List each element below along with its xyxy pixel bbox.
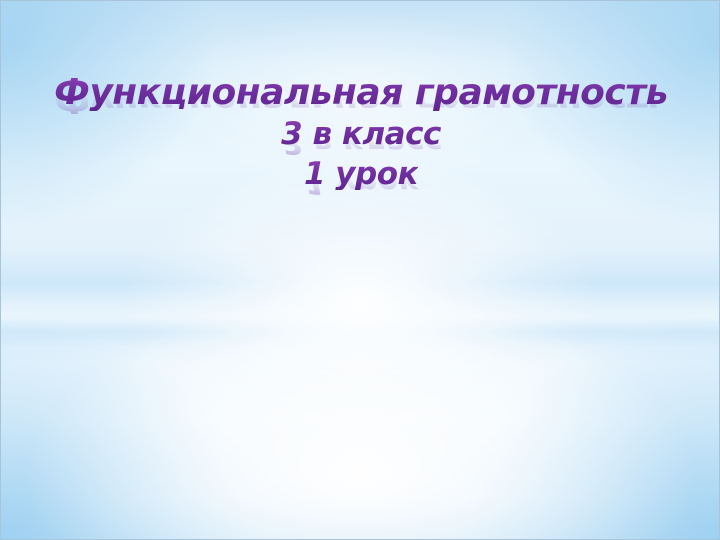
title-line-1: Функциональная грамотность Функциональна…	[1, 75, 720, 117]
slide-title-block: Функциональная грамотность Функциональна…	[1, 75, 720, 197]
title-line-2: 3 в класс 3 в класс	[1, 119, 720, 157]
title-line-1-text: Функциональная грамотность	[54, 75, 668, 111]
title-line-3-text: 1 урок	[304, 159, 418, 190]
title-line-3: 1 урок 1 урок	[1, 159, 720, 197]
presentation-slide: Функциональная грамотность Функциональна…	[0, 0, 720, 540]
title-line-2-text: 3 в класс	[281, 119, 441, 150]
